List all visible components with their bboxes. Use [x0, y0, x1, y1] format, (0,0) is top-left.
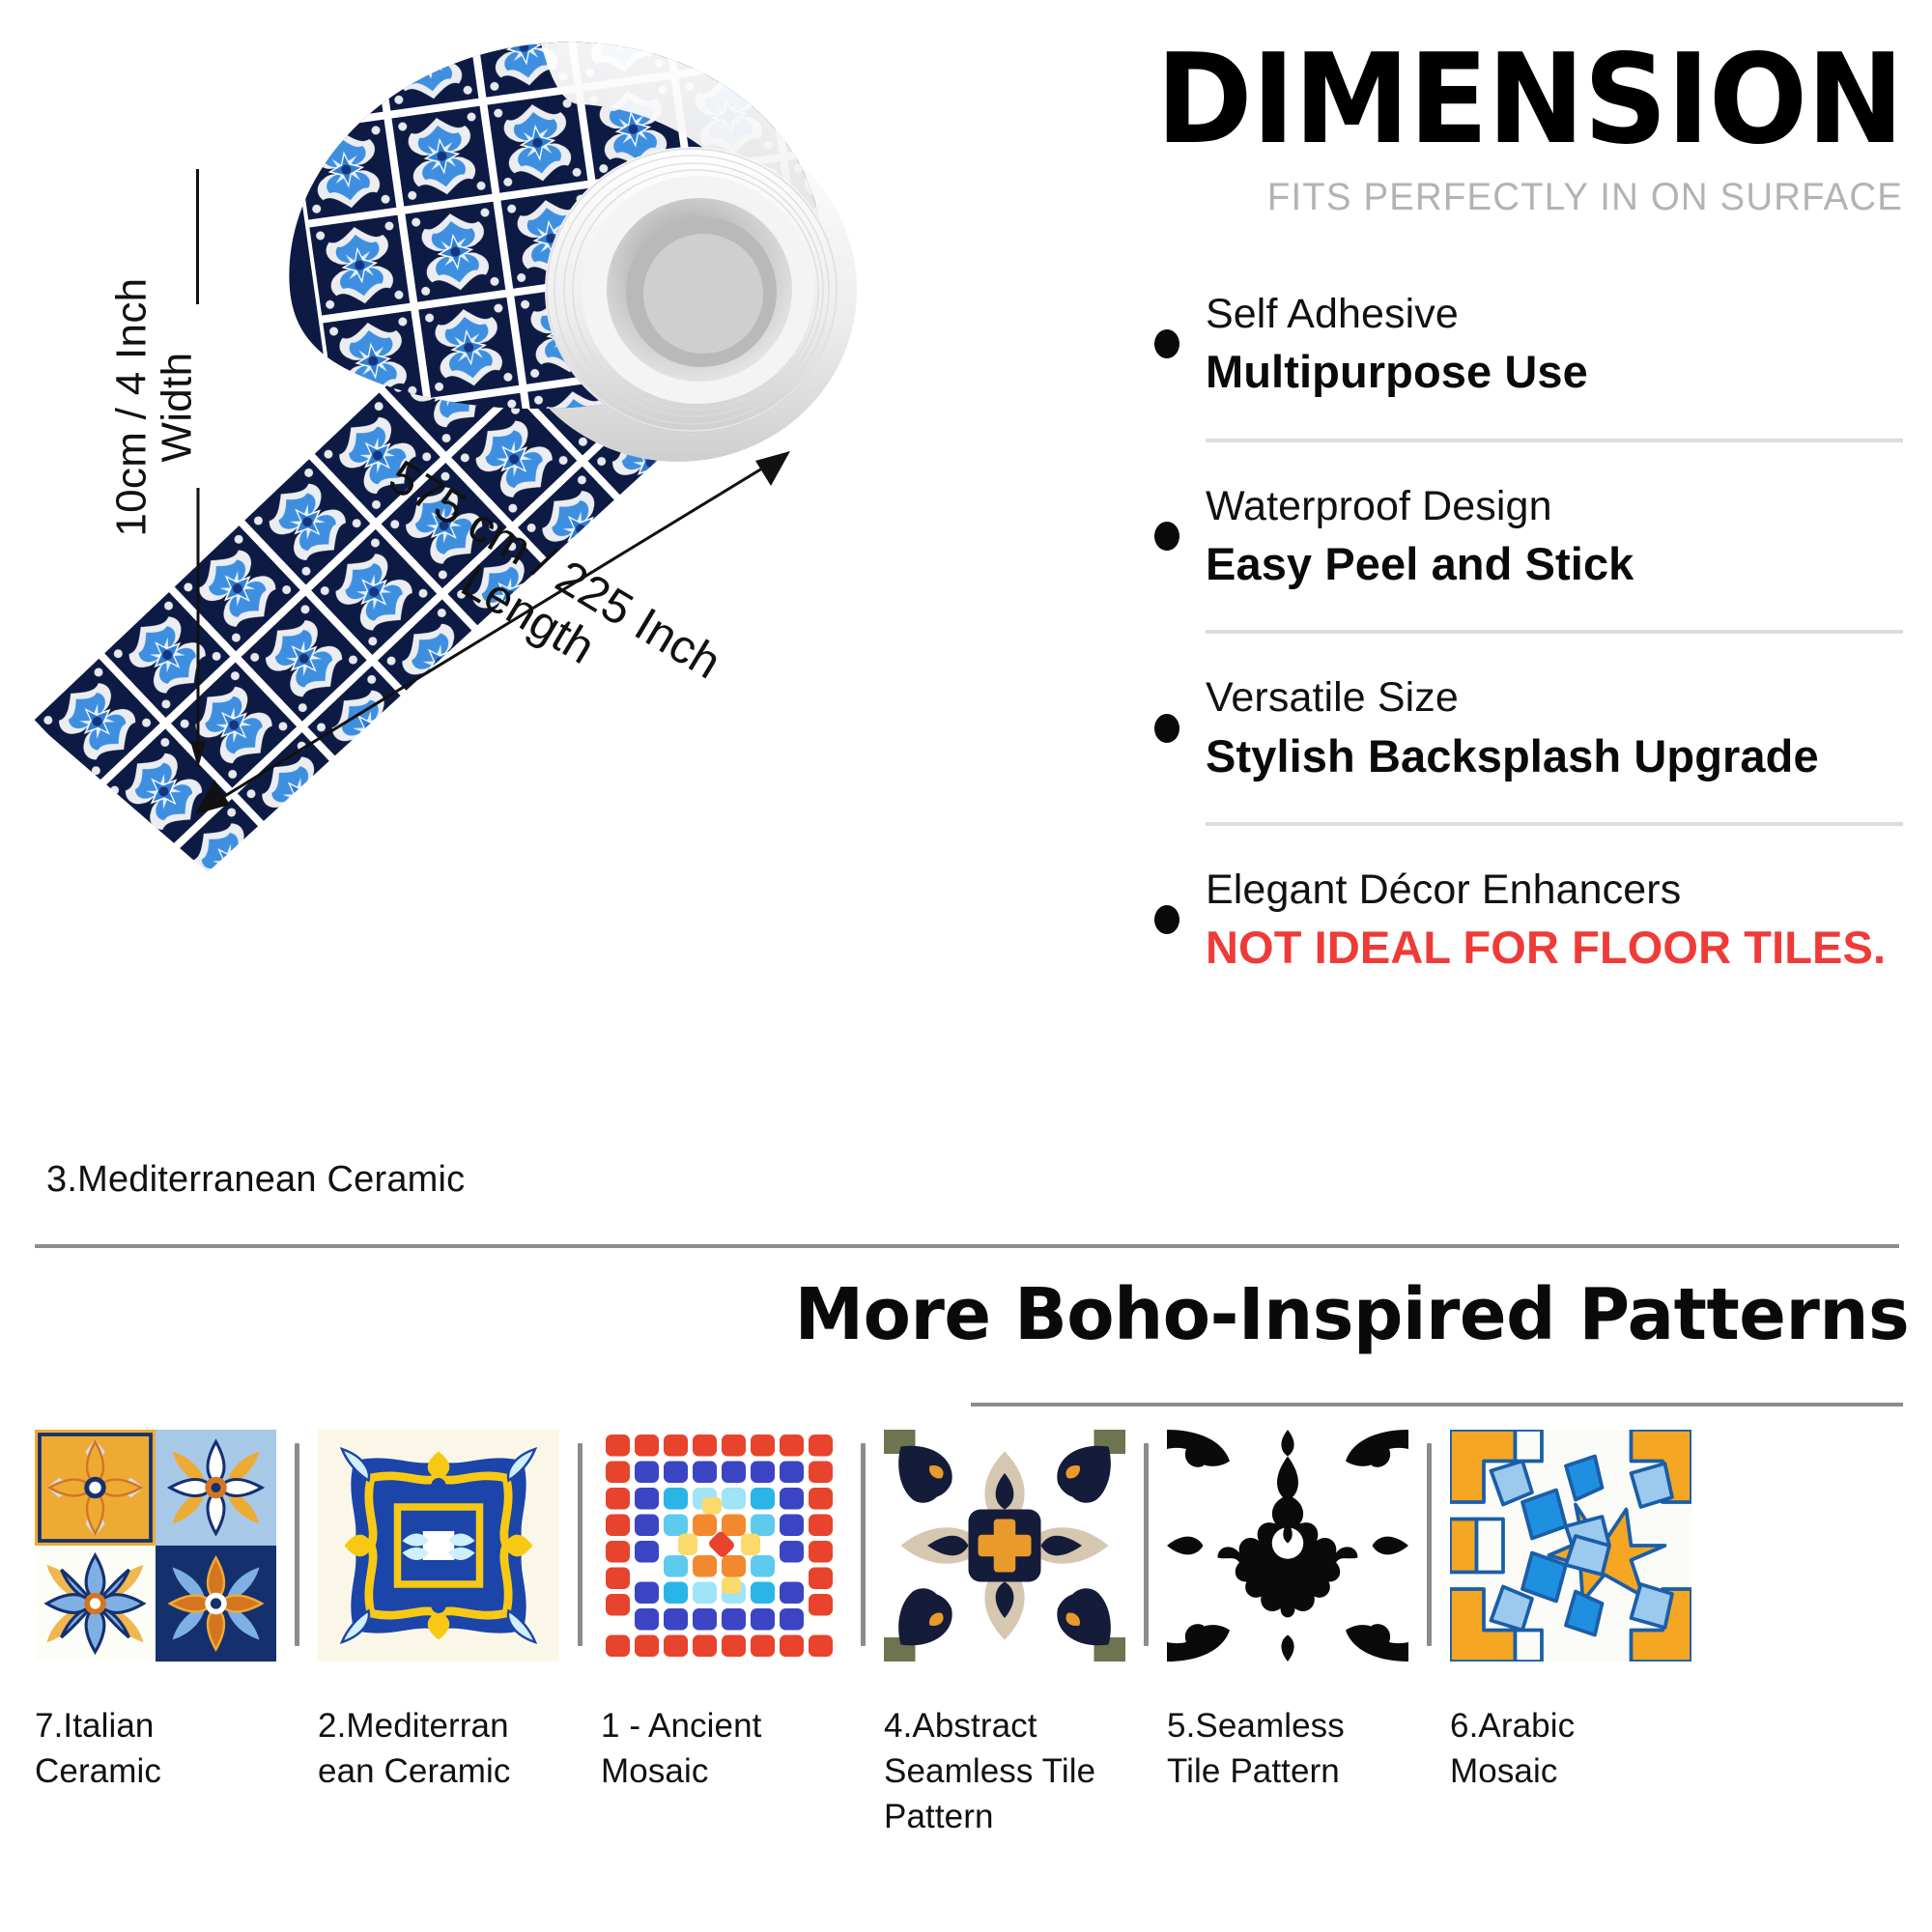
feature-warning-text: NOT IDEAL FOR FLOOR TILES.: [1206, 920, 1903, 975]
pattern-label-line2: ean Ceramic: [318, 1752, 511, 1790]
pattern-label-line2: Seamless Tile: [884, 1752, 1095, 1790]
pattern-label: 6.Arabic Mosaic: [1450, 1704, 1691, 1795]
feature-item-self-adhesive: Self Adhesive Multipurpose Use: [1101, 289, 1903, 400]
section-divider-rule: [35, 1244, 1899, 1248]
feature-divider: [1206, 439, 1903, 442]
thumbnail-separator: [295, 1443, 299, 1646]
pattern-thumbnail-italian-ceramic[interactable]: [35, 1430, 276, 1662]
feature-subtitle: Multipurpose Use: [1206, 344, 1903, 399]
pattern-label: 4.Abstract Seamless Tile Pattern: [884, 1704, 1125, 1840]
pattern-label-line1: 7.Italian: [35, 1707, 155, 1745]
pattern-card-italian-ceramic[interactable]: 7.Italian Ceramic: [35, 1430, 276, 1795]
feature-item-elegant-decor-enhancers: Elegant Décor Enhancers NOT IDEAL FOR FL…: [1101, 865, 1903, 976]
tape-roll: [270, 0, 950, 462]
pattern-thumbnail-ancient-mosaic[interactable]: [601, 1430, 842, 1662]
infographic-page: 10cm / 4 Inch Width 575 cm / 225 Inch Le…: [0, 0, 1932, 1932]
page-subtitle: FITS PERFECTLY IN ON SURFACE: [1133, 176, 1903, 219]
dimension-info-panel: DIMENSION FITS PERFECTLY IN ON SURFACE S…: [1101, 39, 1903, 976]
thumbnail-separator: [578, 1443, 582, 1646]
bullet-dot-icon: [1154, 714, 1179, 743]
pattern-label: 5.Seamless Tile Pattern: [1167, 1704, 1408, 1795]
thumbnail-separator: [861, 1443, 866, 1646]
thumbnail-separator: [1427, 1443, 1432, 1646]
pattern-card-mediterranean-ceramic[interactable]: 2.Mediterran ean Ceramic: [318, 1430, 559, 1795]
pattern-thumbnail-arabic-mosaic[interactable]: [1450, 1430, 1691, 1662]
pattern-label-line3: Pattern: [884, 1798, 994, 1835]
pattern-thumbnail-abstract-seamless-tile[interactable]: [884, 1430, 1125, 1662]
feature-list: Self Adhesive Multipurpose Use Waterproo…: [1101, 289, 1903, 976]
pattern-label-line1: 1 - Ancient: [601, 1707, 761, 1745]
feature-title: Self Adhesive: [1206, 289, 1903, 340]
page-title: DIMENSION: [1150, 39, 1903, 162]
pattern-label-line2: Mosaic: [1450, 1752, 1557, 1790]
feature-subtitle: Stylish Backsplash Upgrade: [1206, 728, 1903, 783]
pattern-card-seamless-tile-pattern[interactable]: 5.Seamless Tile Pattern: [1167, 1430, 1408, 1795]
bullet-dot-icon: [1154, 329, 1179, 358]
feature-subtitle: Easy Peel and Stick: [1206, 536, 1903, 591]
pattern-card-abstract-seamless-tile[interactable]: 4.Abstract Seamless Tile Pattern: [884, 1430, 1125, 1840]
feature-divider: [1206, 630, 1903, 634]
pattern-label-line1: 2.Mediterran: [318, 1707, 509, 1745]
pattern-thumbnail-row: 7.Italian Ceramic: [35, 1430, 1899, 1893]
pattern-label-line1: 5.Seamless: [1167, 1707, 1345, 1745]
pattern-thumbnail-seamless-tile-pattern[interactable]: [1167, 1430, 1408, 1662]
pattern-label-line2: Ceramic: [35, 1752, 161, 1790]
pattern-card-arabic-mosaic[interactable]: 6.Arabic Mosaic: [1450, 1430, 1691, 1795]
pattern-label: 7.Italian Ceramic: [35, 1704, 276, 1795]
pattern-label-line1: 4.Abstract: [884, 1707, 1037, 1745]
more-patterns-heading: More Boho-Inspired Patterns: [794, 1273, 1909, 1356]
pattern-label: 1 - Ancient Mosaic: [601, 1704, 842, 1795]
feature-item-waterproof-design: Waterproof Design Easy Peel and Stick: [1101, 481, 1903, 592]
pattern-label-line1: 6.Arabic: [1450, 1707, 1575, 1745]
thumbnail-separator: [1144, 1443, 1149, 1646]
feature-divider: [1206, 822, 1903, 826]
pattern-label: 2.Mediterran ean Ceramic: [318, 1704, 559, 1795]
pattern-thumbnail-mediterranean-ceramic[interactable]: [318, 1430, 559, 1662]
more-patterns-underline: [971, 1403, 1903, 1406]
pattern-card-ancient-mosaic[interactable]: 1 - Ancient Mosaic: [601, 1430, 842, 1795]
feature-title: Versatile Size: [1206, 672, 1903, 724]
bullet-dot-icon: [1154, 522, 1179, 551]
feature-title: Waterproof Design: [1206, 481, 1903, 532]
feature-item-versatile-size: Versatile Size Stylish Backsplash Upgrad…: [1101, 672, 1903, 783]
pattern-label-line2: Mosaic: [601, 1752, 708, 1790]
hero-section: 10cm / 4 Inch Width 575 cm / 225 Inch Le…: [0, 0, 1932, 1111]
product-name-caption: 3.Mediterranean Ceramic: [46, 1159, 465, 1201]
feature-title: Elegant Décor Enhancers: [1206, 865, 1903, 916]
bullet-dot-icon: [1154, 905, 1179, 934]
width-label-line1: 10cm / 4 Inch: [107, 278, 155, 537]
pattern-label-line2: Tile Pattern: [1167, 1752, 1340, 1790]
